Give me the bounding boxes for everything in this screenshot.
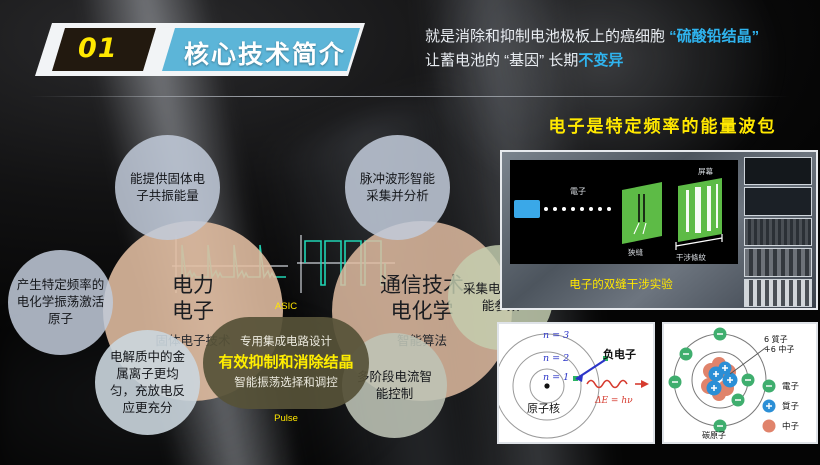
filmstrip-frame-2 [744,187,812,215]
venn-diagram: 电力电子 固体电子技术 通信技术电化学 智能算法 能提供固体电子共振能量 产生特… [0,105,530,455]
svg-text:質子: 質子 [782,401,800,412]
svg-text:原子核: 原子核 [527,401,560,415]
venn-core-panel[interactable]: ASIC 专用集成电路设计 有效抑制和消除结晶 智能振荡选择和调控 Pulse [203,317,369,409]
svg-text:+6 中子: +6 中子 [764,344,794,354]
double-slit-caption: 电子的双缝干涉实验 [502,276,740,292]
core-line-2-highlight: 有效抑制和消除结晶 [218,352,353,374]
core-top-label: ASIC [203,301,369,312]
svg-text:负电子: 负电子 [603,347,636,361]
filmstrip-frame-1 [744,157,812,185]
svg-text:6 質子: 6 質子 [764,334,788,344]
bohr-atom-diagram: n = 3 n = 2 n = 1 负电子 ΔE = hν 原子核 [497,322,655,444]
svg-text:n = 3: n = 3 [543,330,569,341]
carbon-legend: 電子 質子 中子 [763,380,800,433]
filmstrip-frame-3 [744,218,812,246]
header-divider [30,96,790,97]
header-subtitle-line-2: 让蓄电池的 “基因” 长期不变异 [425,49,815,73]
header-subtitle-line-1-highlight: “硫酸铅结晶” [669,28,759,45]
venn-circle-pulse-waveform-sampling[interactable]: 脉冲波形智能采集并分析 [345,135,450,240]
header-subtitle: 就是消除和抑制电池极板上的癌细胞 “硫酸铅结晶” 让蓄电池的 “基因” 长期不变… [425,25,815,73]
interference-buildup-filmstrip [744,157,812,307]
svg-text:電子: 電子 [782,382,800,392]
filmstrip-frame-4 [744,248,812,276]
section-title-bar: 核心技术简介 [162,28,360,71]
bohr-atom-svg: n = 3 n = 2 n = 1 负电子 ΔE = hν 原子核 [499,324,653,442]
right-section-title: 电子是特定频率的能量波包 [505,112,820,137]
double-slit-experiment-card: 電子 狹縫 屏幕 干涉條紋 电子的双缝干涉实验 [500,150,818,310]
page-title: 核心技术简介 [184,35,346,71]
venn-circle-electrolyte-uniformity-label: 电解质中的金属离子更均匀，充放电反应更充分 [107,349,189,417]
slide-root: 01 核心技术简介 就是消除和抑制电池极板上的癌细胞 “硫酸铅结晶” 让蓄电池的… [0,0,820,465]
core-line-3: 智能振荡选择和调控 [234,375,338,392]
svg-text:n = 2: n = 2 [543,353,569,364]
core-line-1: 专用集成电路设计 [240,334,332,351]
venn-circle-solid-electron-resonance-label: 能提供固体电子共振能量 [126,171,210,205]
svg-text:ΔE = hν: ΔE = hν [594,396,633,406]
carbon-atom-diagram: 6 質子 +6 中子 碳原子 電子 質子 中子 [662,322,818,444]
venn-circle-electrochemical-oscillation-label: 产生特定频率的电化学振荡激活原子 [16,277,106,328]
svg-text:電子: 電子 [570,187,586,196]
venn-circle-solid-electron-resonance[interactable]: 能提供固体电子共振能量 [115,135,220,240]
header-subtitle-line-1-text: 就是消除和抑制电池极板上的癌细胞 [425,28,669,45]
svg-text:碳原子: 碳原子 [702,430,726,440]
venn-circle-electrolyte-uniformity[interactable]: 电解质中的金属离子更均匀，充放电反应更充分 [95,330,200,435]
double-slit-diagram: 電子 狹縫 屏幕 干涉條紋 [510,160,738,264]
header-subtitle-line-2-highlight: 不变异 [578,52,623,69]
section-number: 01 [78,33,118,64]
section-header-banner: 01 核心技术简介 [35,23,365,76]
venn-circle-power-electronics-title: 电力电子 [155,273,230,325]
venn-circle-pulse-waveform-sampling-label: 脉冲波形智能采集并分析 [356,171,440,205]
svg-text:干涉條紋: 干涉條紋 [676,252,706,262]
section-number-badge: 01 [52,28,156,71]
venn-circle-electrochemical-oscillation[interactable]: 产生特定频率的电化学振荡激活原子 [8,250,113,355]
svg-text:n = 1: n = 1 [543,372,569,383]
header-subtitle-line-1: 就是消除和抑制电池极板上的癌细胞 “硫酸铅结晶” [425,25,815,49]
svg-text:狹縫: 狹縫 [628,247,643,257]
svg-text:屏幕: 屏幕 [698,166,713,176]
svg-text:中子: 中子 [782,421,800,432]
header-subtitle-line-2-text: 让蓄电池的 “基因” 长期 [425,52,578,69]
filmstrip-frame-5 [744,279,812,307]
carbon-atom-svg: 6 質子 +6 中子 碳原子 電子 質子 中子 [664,324,816,442]
core-bottom-label: Pulse [203,413,369,424]
